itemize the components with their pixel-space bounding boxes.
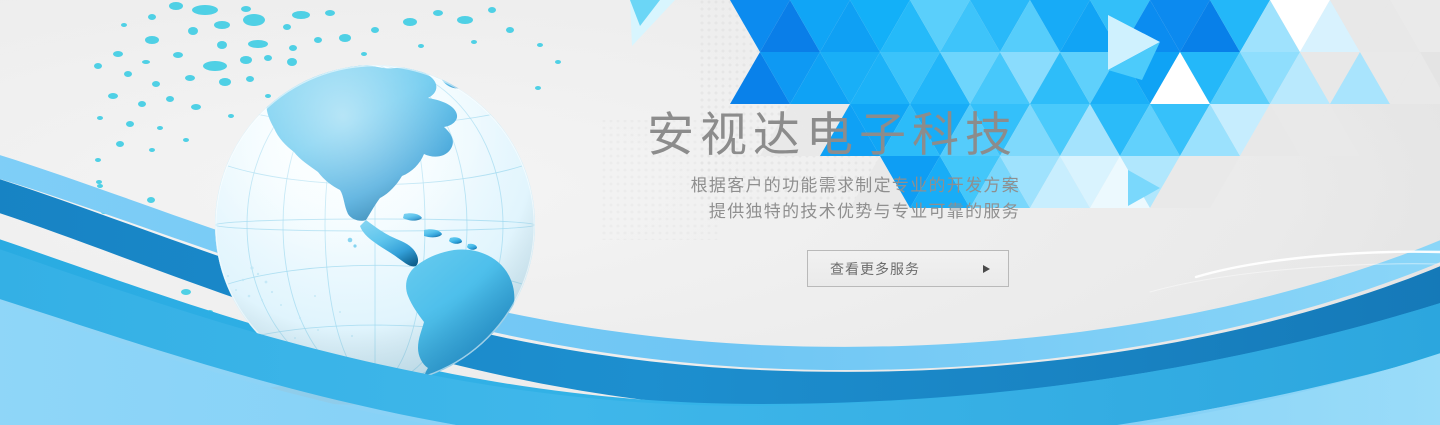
- hero-text-block: 安视达电子科技 根据客户的功能需求制定专业的开发方案 提供独特的技术优势与专业可…: [600, 108, 1020, 225]
- triangle-right-icon: [983, 265, 990, 273]
- subtitle-line-2: 提供独特的技术优势与专业可靠的服务: [600, 199, 1020, 225]
- view-more-services-button[interactable]: 查看更多服务: [807, 250, 1009, 287]
- hero-banner: 安视达电子科技 根据客户的功能需求制定专业的开发方案 提供独特的技术优势与专业可…: [0, 0, 1440, 425]
- cta-label: 查看更多服务: [830, 259, 983, 279]
- subtitle-line-1: 根据客户的功能需求制定专业的开发方案: [600, 173, 1020, 199]
- page-title: 安视达电子科技: [600, 108, 1020, 163]
- white-arc-highlight: [1196, 252, 1440, 277]
